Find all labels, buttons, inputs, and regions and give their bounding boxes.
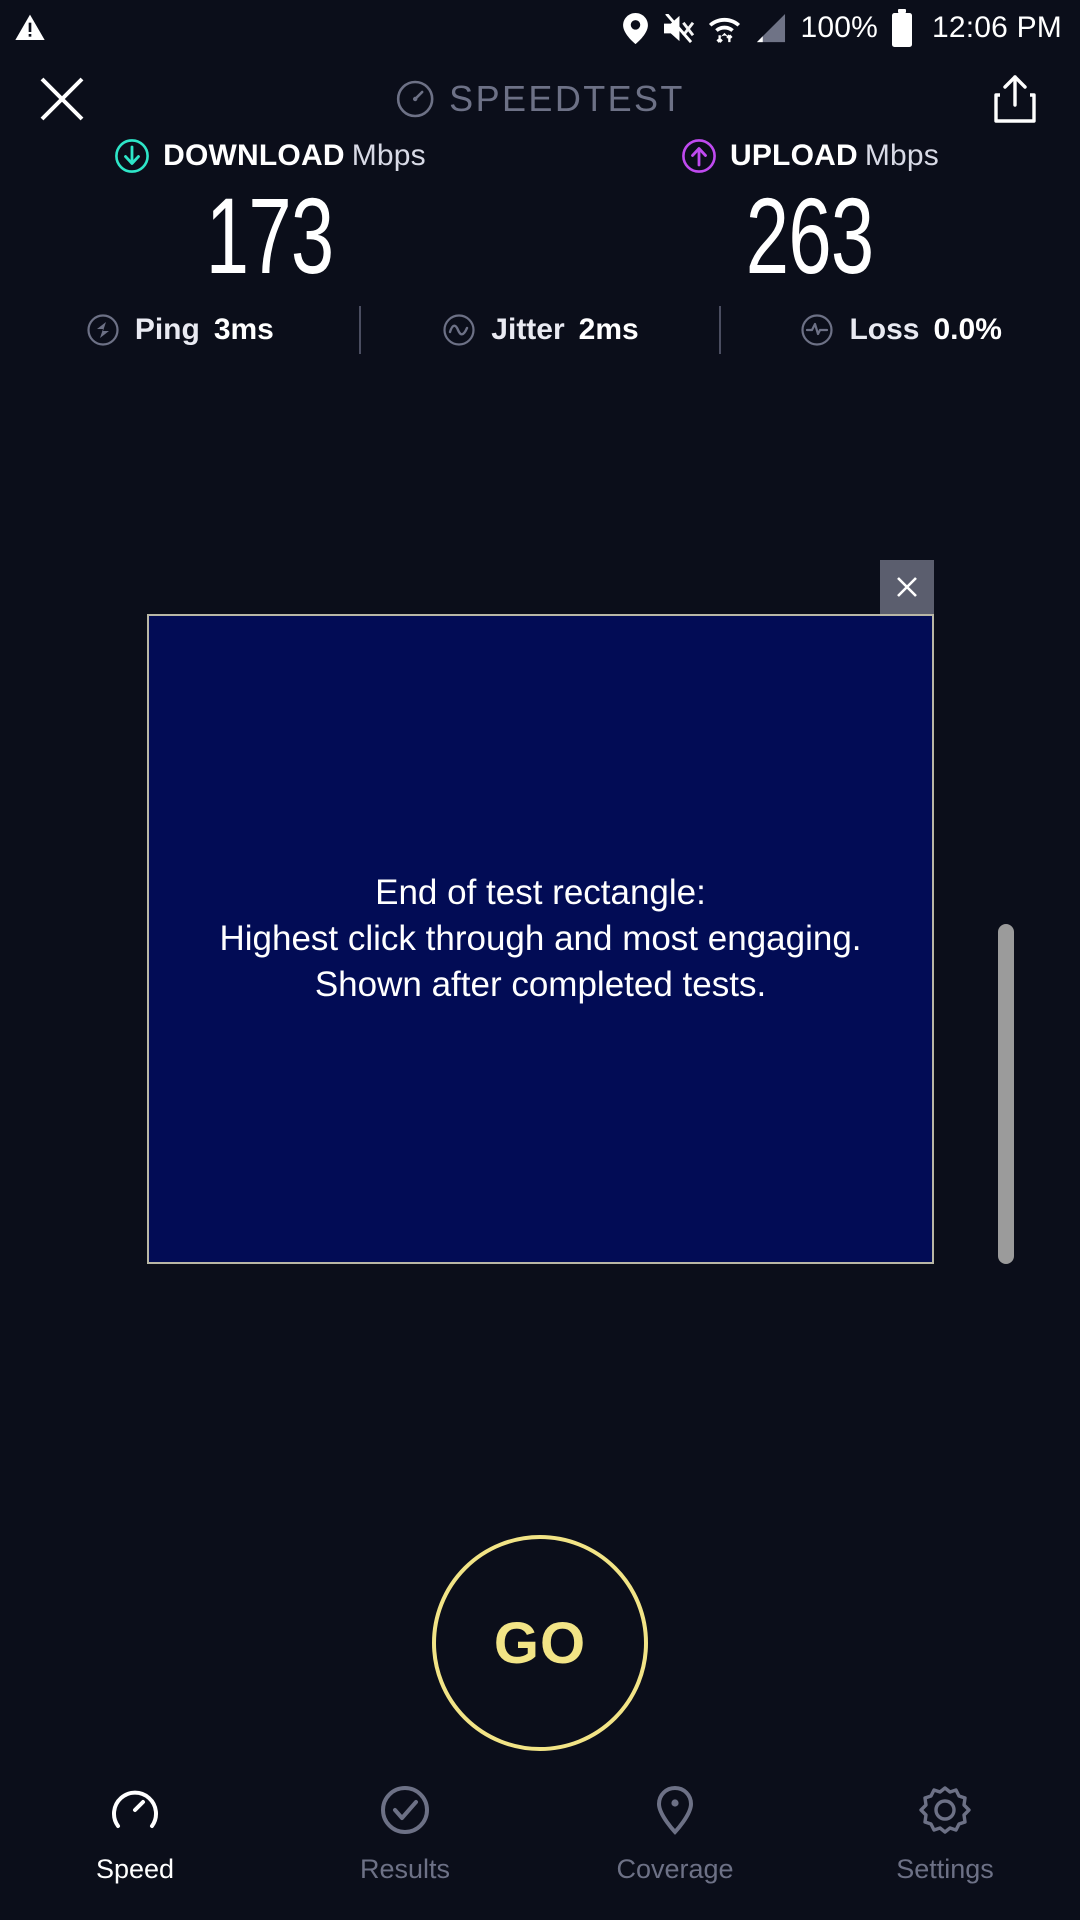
- metric-loss: Loss 0.0%: [721, 312, 1080, 348]
- ad-creative[interactable]: End of test rectangle: Highest click thr…: [147, 614, 934, 1264]
- metric-jitter: Jitter 2ms: [361, 312, 720, 348]
- mute-icon: [662, 14, 695, 43]
- gear-icon: [917, 1782, 973, 1838]
- wifi-icon: [708, 12, 741, 45]
- advertisement: End of test rectangle: Highest click thr…: [147, 614, 934, 1264]
- location-pin-icon: [622, 13, 649, 44]
- status-bar-right: 100% 12:06 PM: [622, 9, 1062, 47]
- metric-jitter-value: 2ms: [579, 313, 639, 347]
- results-summary: DOWNLOADMbps 173 UPLOADMbps 263: [0, 138, 1080, 290]
- speedometer-icon: [395, 79, 435, 119]
- speedometer-icon: [107, 1782, 163, 1838]
- bottom-tab-bar: Speed Results Coverage: [0, 1760, 1080, 1920]
- download-result: DOWNLOADMbps 173: [0, 138, 540, 290]
- metrics-row: Ping 3ms Jitter 2ms Loss 0.0: [0, 300, 1080, 360]
- metric-loss-value: 0.0%: [934, 313, 1002, 347]
- close-icon: [892, 572, 922, 602]
- ping-icon: [85, 312, 121, 348]
- jitter-icon: [441, 312, 477, 348]
- share-button[interactable]: [992, 73, 1038, 125]
- brand: SPEEDTEST: [395, 78, 685, 120]
- download-header: DOWNLOADMbps: [114, 138, 426, 174]
- tab-settings-label: Settings: [896, 1854, 994, 1885]
- tab-results-label: Results: [360, 1854, 450, 1885]
- go-button-label: GO: [494, 1610, 586, 1677]
- map-pin-icon: [647, 1782, 703, 1838]
- speed-values-row: DOWNLOADMbps 173 UPLOADMbps 263: [0, 138, 1080, 290]
- tab-coverage[interactable]: Coverage: [540, 1760, 810, 1920]
- upload-label: UPLOADMbps: [730, 139, 939, 173]
- brand-title: SPEEDTEST: [449, 78, 685, 120]
- metric-loss-label: Loss: [849, 313, 919, 347]
- clock-label: 12:06 PM: [932, 11, 1062, 45]
- upload-value: 263: [746, 182, 874, 290]
- tab-coverage-label: Coverage: [616, 1854, 733, 1885]
- upload-arrow-icon: [681, 138, 717, 174]
- loss-icon: [799, 312, 835, 348]
- check-circle-icon: [377, 1782, 433, 1838]
- metric-ping-value: 3ms: [214, 313, 274, 347]
- cellular-signal-icon: [754, 13, 787, 44]
- upload-result: UPLOADMbps 263: [540, 138, 1080, 290]
- ad-line-1: End of test rectangle:: [219, 870, 861, 916]
- warning-triangle-icon: [14, 12, 46, 44]
- battery-full-icon: [891, 9, 913, 47]
- tab-results[interactable]: Results: [270, 1760, 540, 1920]
- ad-line-3: Shown after completed tests.: [219, 962, 861, 1008]
- tab-speed[interactable]: Speed: [0, 1760, 270, 1920]
- tab-settings[interactable]: Settings: [810, 1760, 1080, 1920]
- status-bar: 100% 12:06 PM: [0, 0, 1080, 56]
- battery-percent-label: 100%: [800, 11, 878, 45]
- ad-close-button[interactable]: [880, 560, 934, 614]
- download-label: DOWNLOADMbps: [163, 139, 426, 173]
- app-header: SPEEDTEST: [0, 56, 1080, 142]
- go-button[interactable]: GO: [432, 1535, 648, 1751]
- upload-header: UPLOADMbps: [681, 138, 939, 174]
- status-bar-left: [14, 12, 46, 44]
- ad-text: End of test rectangle: Highest click thr…: [219, 870, 861, 1009]
- ad-line-2: Highest click through and most engaging.: [219, 916, 861, 962]
- scrollbar-thumb[interactable]: [998, 924, 1014, 1264]
- metric-ping-label: Ping: [135, 313, 200, 347]
- metric-ping: Ping 3ms: [0, 312, 359, 348]
- close-button[interactable]: [36, 73, 88, 125]
- tab-speed-label: Speed: [96, 1854, 174, 1885]
- download-value: 173: [206, 182, 334, 290]
- speedtest-app-screen: 100% 12:06 PM S: [0, 0, 1080, 1920]
- metric-jitter-label: Jitter: [491, 313, 564, 347]
- download-arrow-icon: [114, 138, 150, 174]
